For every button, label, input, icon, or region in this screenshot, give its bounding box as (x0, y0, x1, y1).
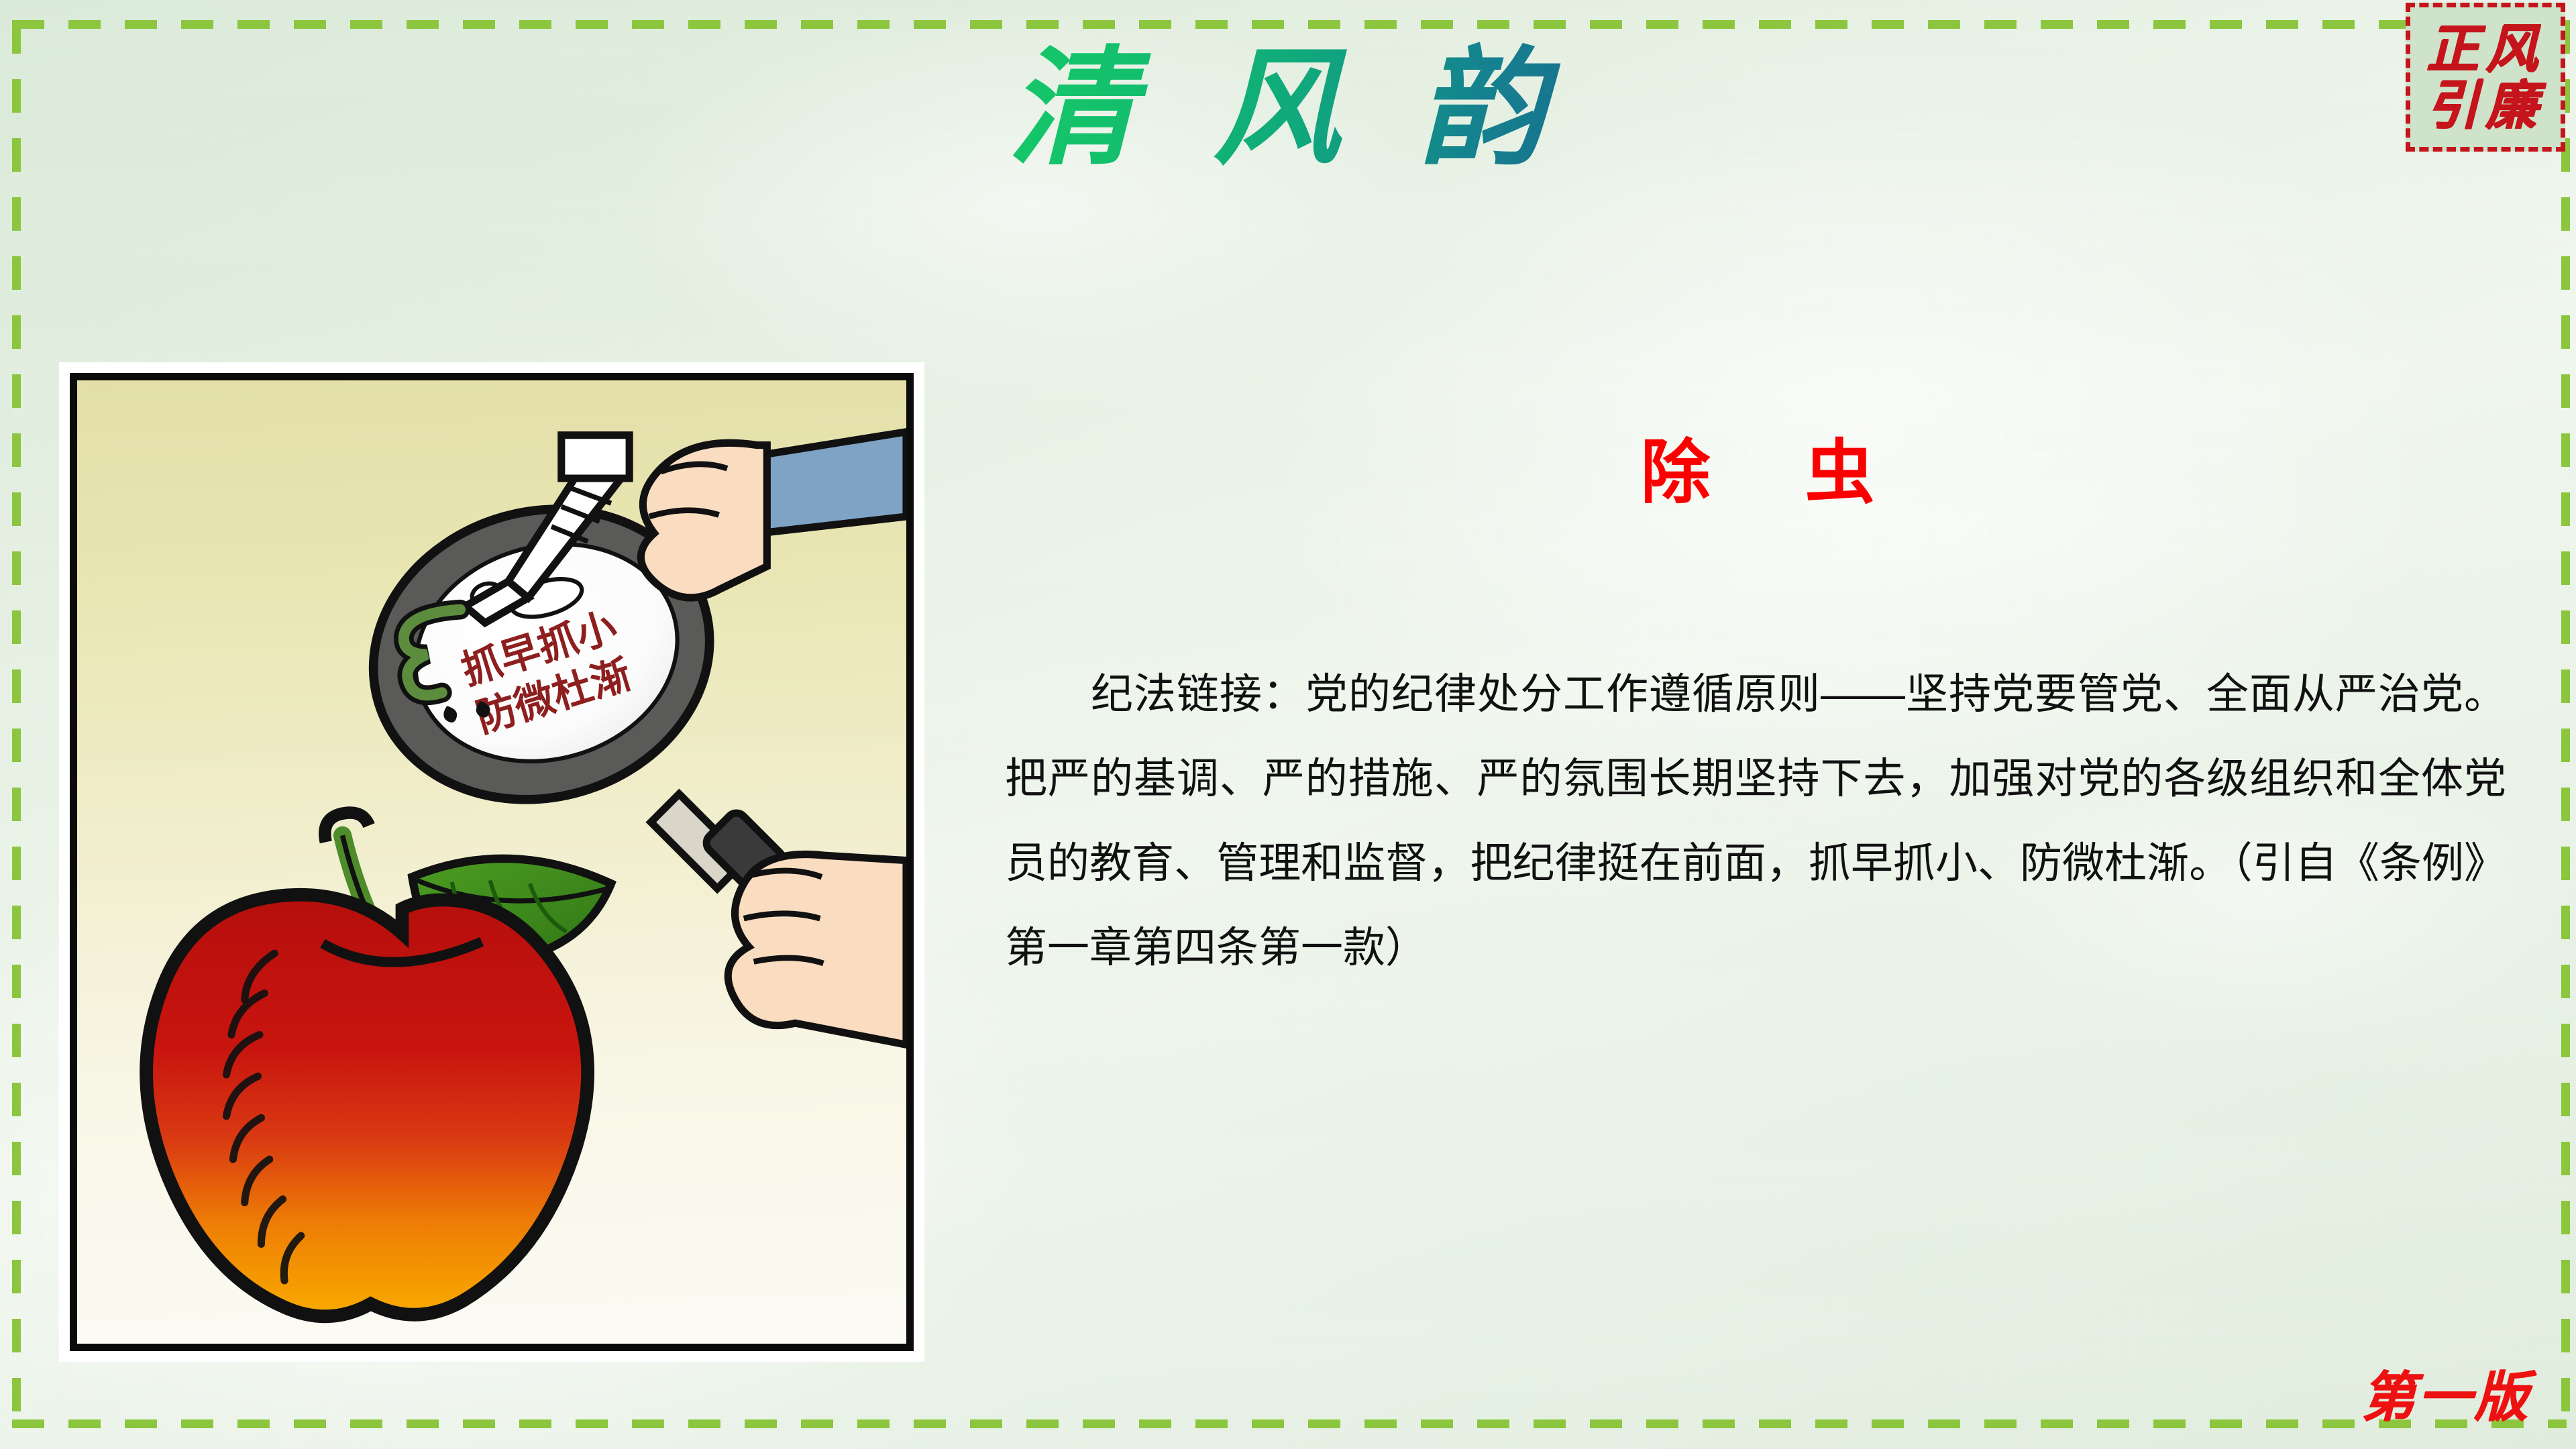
hand-holding-magnifier (728, 855, 906, 1045)
border-dash-left (12, 20, 21, 1437)
article-headline: 除 虫 (1006, 429, 2509, 517)
cartoon-illustration: 抓早抓小 防微杜渐 (77, 380, 906, 1344)
seal-badge: 正风 引廉 (2406, 3, 2565, 152)
apple-illustration (146, 812, 611, 1316)
newsletter-page: 清 风 韵 正风 引廉 (0, 0, 2576, 1449)
masthead-title: 清 风 韵 (986, 39, 1590, 182)
border-dash-right (2561, 20, 2570, 1437)
article-body: 纪法链接：党的纪律处分工作遵循原则——坚持党要管党、全面从严治党。把严的基调、严… (1005, 652, 2506, 990)
seal-line-1: 正风 (2426, 21, 2544, 78)
border-dash-bottom (12, 1419, 2567, 1428)
page-number-mark: 第一版 (2361, 1354, 2530, 1432)
seal-line-2: 引廉 (2426, 78, 2544, 134)
illustration-card: 抓早抓小 防微杜渐 (59, 362, 924, 1362)
illustration-frame: 抓早抓小 防微杜渐 (70, 373, 914, 1351)
border-dash-top (12, 20, 2567, 29)
